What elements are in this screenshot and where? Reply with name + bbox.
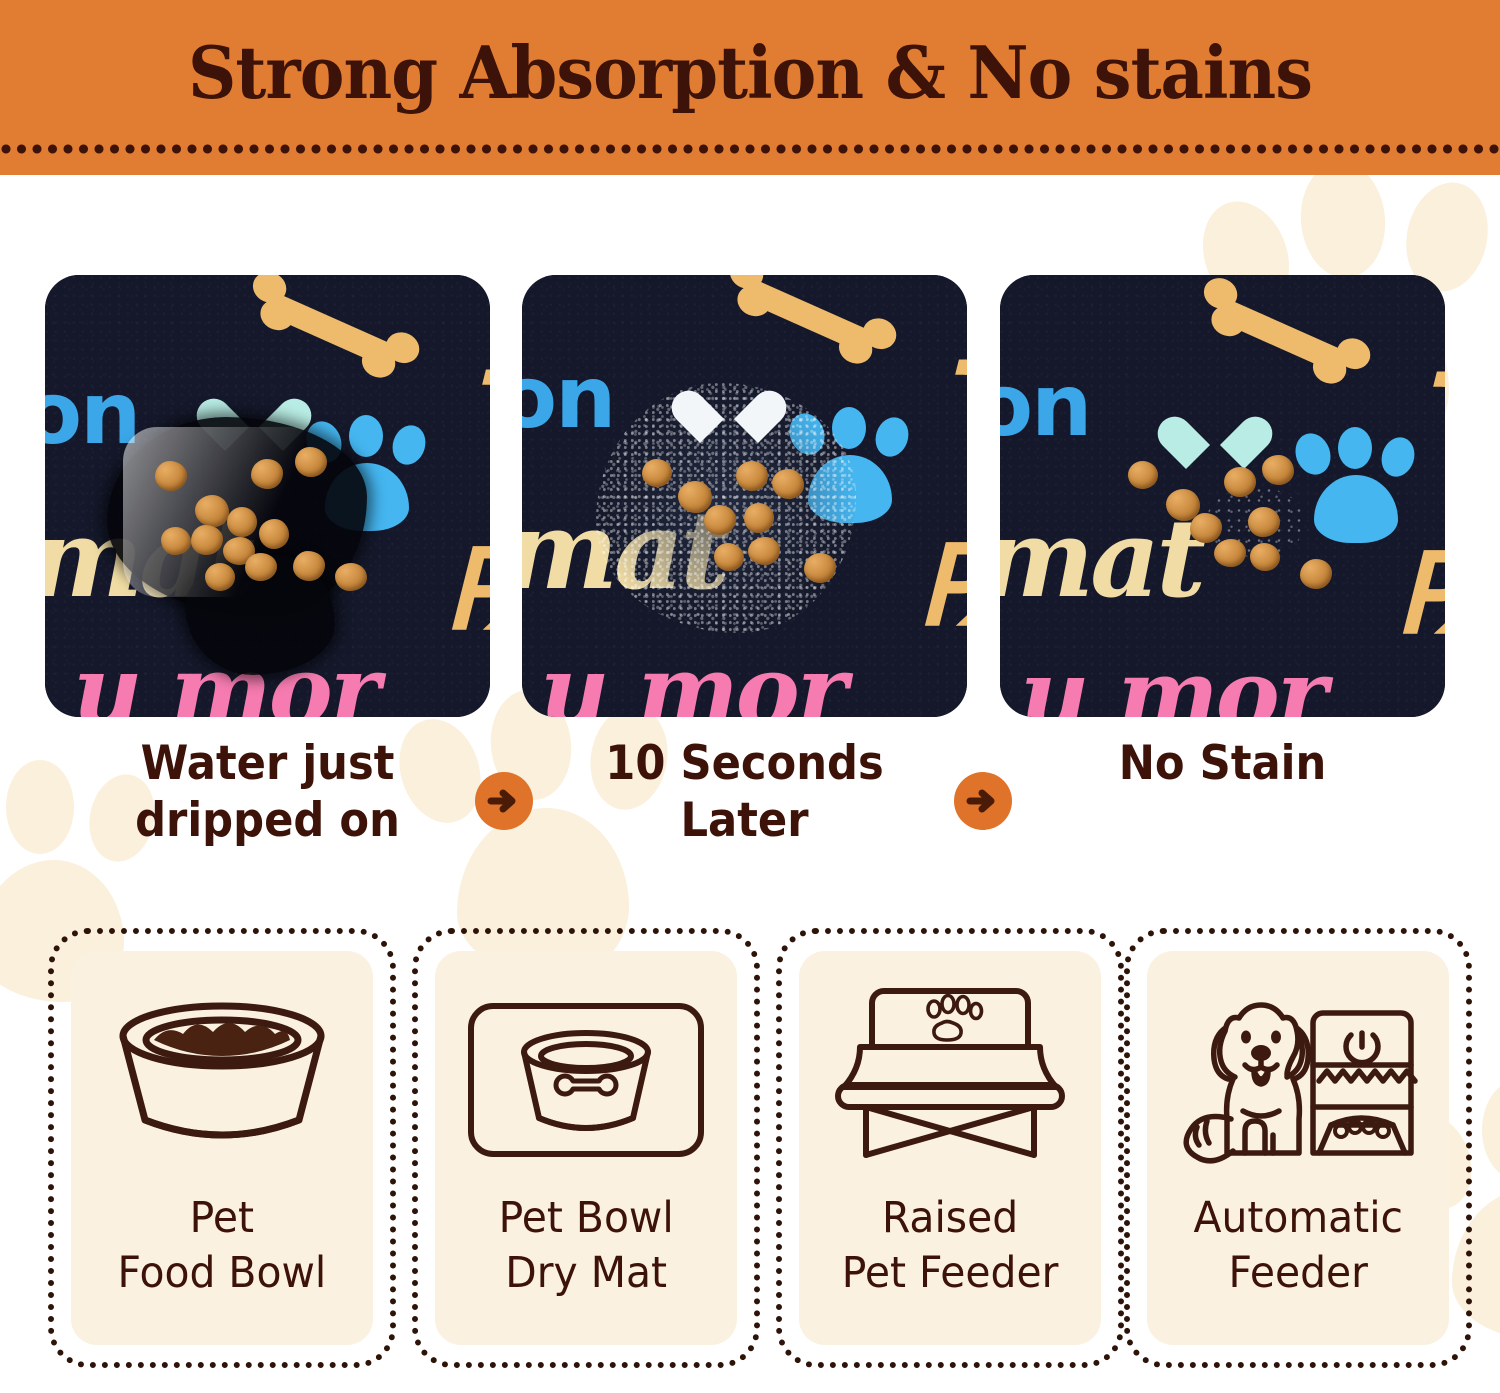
kibble-piece: [293, 551, 325, 581]
pet-food-bowl-icon: [92, 975, 352, 1185]
header-banner: Strong Absorption & No stains: [0, 0, 1500, 175]
mat-edge-glyph: ℞: [918, 511, 967, 661]
demo-photo-water-dripped: on mat u mor ❴ ℞: [45, 275, 490, 717]
kibble-piece: [1300, 559, 1332, 589]
mat-text-on: on: [45, 371, 139, 457]
kibble-piece: [736, 461, 768, 491]
kibble-piece: [295, 447, 327, 477]
demo-captions: Water just dripped on 10 Seconds Later N…: [0, 735, 1500, 845]
kibble-piece: [155, 461, 187, 491]
use-case-card-raised-pet-feeder[interactable]: Raised Pet Feeder: [776, 928, 1124, 1368]
kibble-piece: [1128, 461, 1158, 489]
mat-text-script: u mor: [1020, 647, 1324, 717]
mat-edge-glyph: ❴: [922, 285, 967, 435]
card-label-pet-bowl-dry-mat: Pet Bowl Dry Mat: [498, 1191, 673, 1301]
use-case-cards: Pet Food Bowl Pet Bo: [0, 928, 1500, 1378]
demo-photo-ten-seconds: on mat u mor ❴ ℞: [522, 275, 967, 717]
kibble-piece: [205, 563, 235, 591]
pet-bowl-dry-mat-icon: [456, 975, 716, 1185]
kibble-piece: [1250, 543, 1280, 571]
mat-text-on: on: [1000, 363, 1090, 449]
kibble-piece: [251, 459, 283, 489]
demo-caption-no-stain: No Stain: [1018, 735, 1427, 792]
mat-edge-glyph: ℞: [445, 515, 490, 665]
kibble-piece: [259, 519, 289, 549]
mat-edge-glyph: ❴: [449, 295, 490, 445]
use-case-card-pet-food-bowl[interactable]: Pet Food Bowl: [48, 928, 396, 1368]
card-inner-panel: Pet Bowl Dry Mat: [435, 951, 737, 1345]
kibble-piece: [714, 543, 744, 571]
dotted-divider-icon: [0, 143, 1500, 155]
use-case-card-automatic-feeder[interactable]: Automatic Feeder: [1124, 928, 1472, 1368]
mat-text-mat: mat: [1000, 505, 1202, 613]
mat-text-script: u mor: [540, 643, 844, 717]
kibble-piece: [195, 495, 229, 527]
automatic-feeder-icon: [1168, 975, 1428, 1185]
kibble-piece: [748, 537, 780, 565]
page-title: Strong Absorption & No stains: [53, 34, 1448, 112]
mat-text-on: on: [522, 355, 614, 441]
raised-pet-feeder-icon: [820, 975, 1080, 1185]
kibble-piece: [804, 553, 836, 583]
use-case-card-pet-bowl-dry-mat[interactable]: Pet Bowl Dry Mat: [412, 928, 760, 1368]
demo-photo-no-stain: on mat u mor ❴ ℞: [1000, 275, 1445, 717]
demo-caption-ten-seconds: 10 Seconds Later: [540, 735, 949, 849]
absorption-demo-strip: on mat u mor ❴ ℞: [0, 275, 1500, 717]
card-inner-panel: Pet Food Bowl: [71, 951, 373, 1345]
mat-edge-glyph: ❴: [1400, 297, 1445, 447]
heart-graphic: [1186, 419, 1244, 471]
heart-graphic: [700, 393, 758, 445]
kibble-piece: [678, 481, 712, 513]
paw-print-graphic: [1290, 427, 1422, 547]
kibble-piece: [161, 527, 191, 555]
kibble-piece: [227, 507, 257, 537]
kibble-piece: [335, 563, 367, 591]
card-inner-panel: Automatic Feeder: [1147, 951, 1449, 1345]
kibble-piece: [642, 459, 672, 487]
card-label-pet-food-bowl: Pet Food Bowl: [118, 1191, 327, 1301]
demo-caption-water-dripped: Water just dripped on: [63, 735, 472, 849]
card-label-raised-pet-feeder: Raised Pet Feeder: [842, 1191, 1059, 1301]
kibble-piece: [772, 469, 804, 499]
card-inner-panel: Raised Pet Feeder: [799, 951, 1101, 1345]
kibble-piece: [1262, 455, 1294, 485]
card-label-automatic-feeder: Automatic Feeder: [1193, 1191, 1403, 1301]
kibble-piece: [1224, 467, 1256, 497]
kibble-piece: [1214, 539, 1246, 567]
